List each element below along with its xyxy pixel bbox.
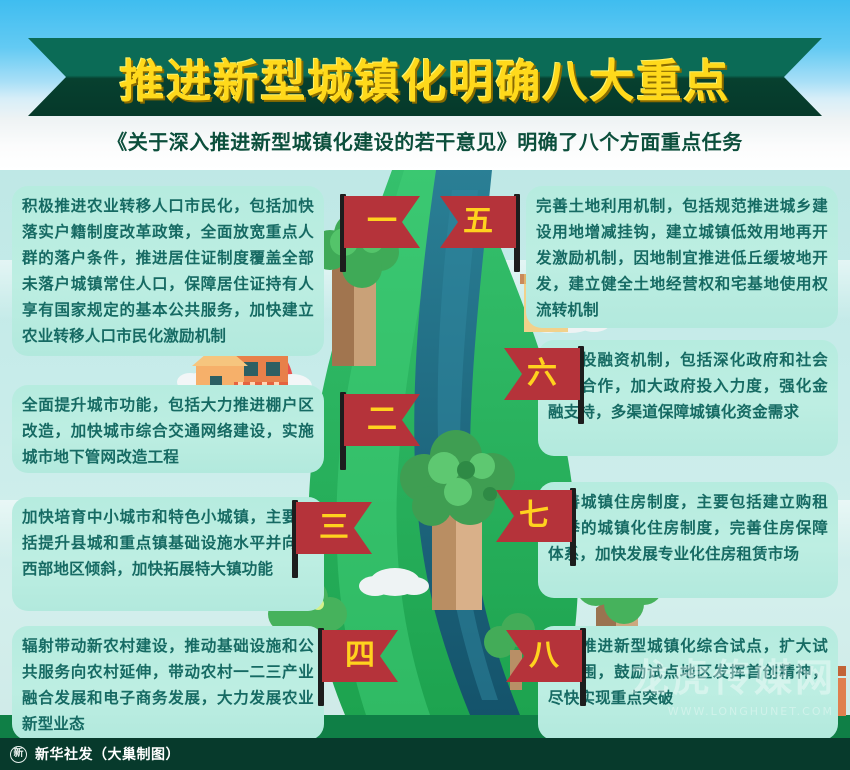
flag-numeral-1: 一 <box>344 196 420 248</box>
flag-marker-5: 五 <box>434 194 526 272</box>
flag-numeral-4: 四 <box>322 630 398 682</box>
watermark-text: 龙虎传媒网 <box>631 647 836 702</box>
point-text-1: 积极推进农业转移人口市民化，包括加快落实户籍制度改革政策，全面放宽重点人群的落户… <box>12 186 324 356</box>
flag-marker-2: 二 <box>334 392 426 470</box>
flag-marker-4: 四 <box>312 628 404 706</box>
flag-marker-3: 三 <box>286 500 378 578</box>
watermark-url: WWW.LONGHUNET.COM <box>668 705 834 718</box>
footer-bar: 新 新华社发（大巢制图） <box>0 738 850 770</box>
point-text-3: 加快培育中小城市和特色小城镇，主要包括提升县城和重点镇基础设施水平并向中西部地区… <box>12 497 324 611</box>
flag-marker-7: 七 <box>490 488 582 566</box>
flag-numeral-3: 三 <box>296 502 372 554</box>
flag-numeral-7: 七 <box>496 490 572 542</box>
flag-marker-1: 一 <box>334 194 426 272</box>
infographic-root: 推进新型城镇化明确八大重点 《关于深入推进新型城镇化建设的若干意见》明确了八个方… <box>0 0 850 770</box>
flag-marker-6: 六 <box>498 346 590 424</box>
flag-numeral-5: 五 <box>440 196 516 248</box>
point-text-7: 完善城镇住房制度，主要包括建立购租并举的城镇化住房制度，完善住房保障体系，加快发… <box>538 482 838 598</box>
flag-numeral-8: 八 <box>506 630 582 682</box>
footer-credit: 新华社发（大巢制图） <box>35 744 180 764</box>
page-subtitle: 《关于深入推进新型城镇化建设的若干意见》明确了八个方面重点任务 <box>0 126 850 155</box>
flag-numeral-2: 二 <box>344 394 420 446</box>
page-title: 推进新型城镇化明确八大重点 <box>0 38 850 116</box>
point-text-2: 全面提升城市功能，包括大力推进棚户区改造，加快城市综合交通网络建设，实施城市地下… <box>12 385 324 473</box>
flag-numeral-6: 六 <box>504 348 580 400</box>
header-region: 推进新型城镇化明确八大重点 《关于深入推进新型城镇化建设的若干意见》明确了八个方… <box>0 0 850 170</box>
flag-marker-8: 八 <box>500 628 592 706</box>
point-text-4: 辐射带动新农村建设，推动基础设施和公共服务向农村延伸，带动农村一二三产业融合发展… <box>12 626 324 740</box>
xinhua-logo-icon: 新 <box>10 746 27 763</box>
content-stage: 积极推进农业转移人口市民化，包括加快落实户籍制度改革政策，全面放宽重点人群的落户… <box>0 170 850 740</box>
point-text-5: 完善土地利用机制，包括规范推进城乡建设用地增减挂钩，建立城镇低效用地再开发激励机… <box>526 186 838 328</box>
